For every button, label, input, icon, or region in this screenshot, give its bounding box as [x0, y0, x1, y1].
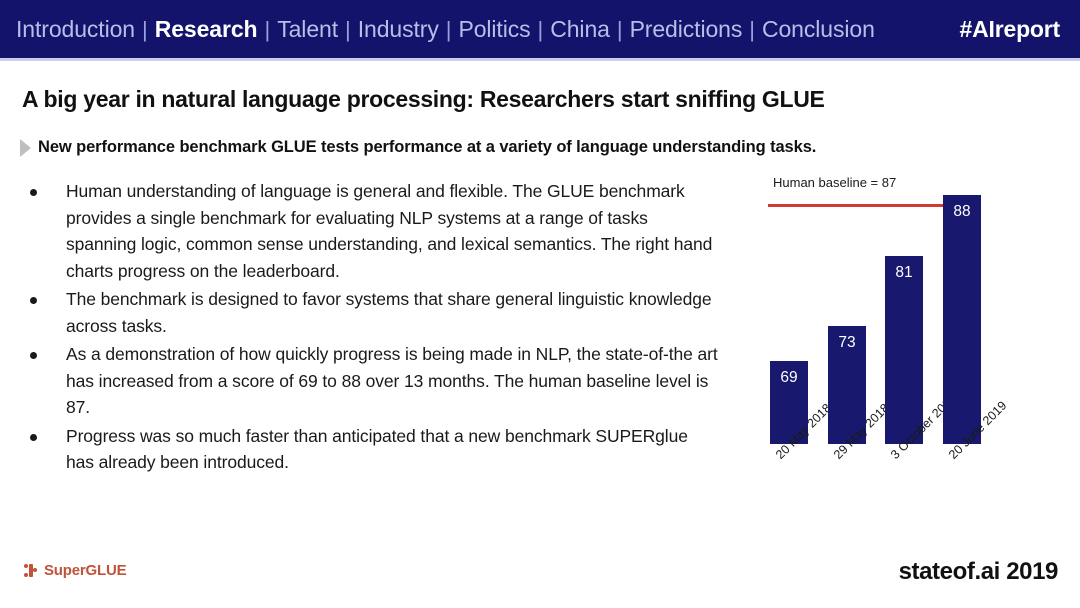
bullet-dot-icon	[30, 189, 37, 196]
nav-separator: |	[258, 17, 278, 43]
page-subtitle: New performance benchmark GLUE tests per…	[38, 138, 816, 157]
nav-item-list: Introduction | Research | Talent | Indus…	[16, 16, 934, 43]
nav-item-industry[interactable]: Industry	[358, 16, 439, 43]
chart-bar: 81	[885, 256, 923, 444]
list-item-text: As a demonstration of how quickly progre…	[66, 341, 720, 421]
nav-item-conclusion[interactable]: Conclusion	[762, 16, 875, 43]
superglue-logo-text: SuperGLUE	[44, 562, 126, 579]
list-item: Progress was so much faster than anticip…	[30, 423, 720, 476]
nav-item-predictions[interactable]: Predictions	[630, 16, 743, 43]
glue-score-bar-chart: Human baseline = 87 6920 May 20187329 Ma…	[745, 175, 1065, 535]
hashtag-label: #AIreport	[960, 16, 1060, 43]
list-item: As a demonstration of how quickly progre…	[30, 341, 720, 421]
nav-item-politics[interactable]: Politics	[458, 16, 530, 43]
nav-separator: |	[610, 17, 630, 43]
subtitle-row: New performance benchmark GLUE tests per…	[20, 138, 816, 157]
chart-bar-value-label: 73	[828, 334, 866, 352]
nav-separator: |	[742, 17, 762, 43]
list-item: Human understanding of language is gener…	[30, 178, 720, 284]
chart-bar-value-label: 81	[885, 264, 923, 282]
nav-separator: |	[135, 17, 155, 43]
nav-item-talent[interactable]: Talent	[277, 16, 338, 43]
nav-underline-divider	[0, 58, 1080, 61]
nav-item-china[interactable]: China	[550, 16, 610, 43]
nav-item-research[interactable]: Research	[155, 16, 258, 43]
nav-item-introduction[interactable]: Introduction	[16, 16, 135, 43]
triangle-bullet-icon	[20, 139, 31, 157]
bullet-dot-icon	[30, 434, 37, 441]
nav-separator: |	[439, 17, 459, 43]
superglue-mark-icon	[24, 563, 39, 578]
list-item-text: Progress was so much faster than anticip…	[66, 423, 720, 476]
chart-bar: 88	[943, 195, 981, 444]
chart-bar-value-label: 88	[943, 203, 981, 221]
bullet-dot-icon	[30, 352, 37, 359]
list-item-text: Human understanding of language is gener…	[66, 178, 720, 284]
nav-separator: |	[531, 17, 551, 43]
bullet-dot-icon	[30, 297, 37, 304]
source-attribution: stateof.ai 2019	[899, 558, 1058, 586]
chart-plot-area: 6920 May 20187329 May 2018813 October 20…	[745, 175, 1065, 445]
top-navigation-bar: Introduction | Research | Talent | Indus…	[0, 0, 1080, 58]
list-item-text: The benchmark is designed to favor syste…	[66, 286, 720, 339]
chart-bar-value-label: 69	[770, 369, 808, 387]
nav-separator: |	[338, 17, 358, 43]
list-item: The benchmark is designed to favor syste…	[30, 286, 720, 339]
bullet-list: Human understanding of language is gener…	[30, 178, 720, 478]
page-title: A big year in natural language processin…	[22, 86, 825, 113]
superglue-logo: SuperGLUE	[24, 562, 126, 579]
